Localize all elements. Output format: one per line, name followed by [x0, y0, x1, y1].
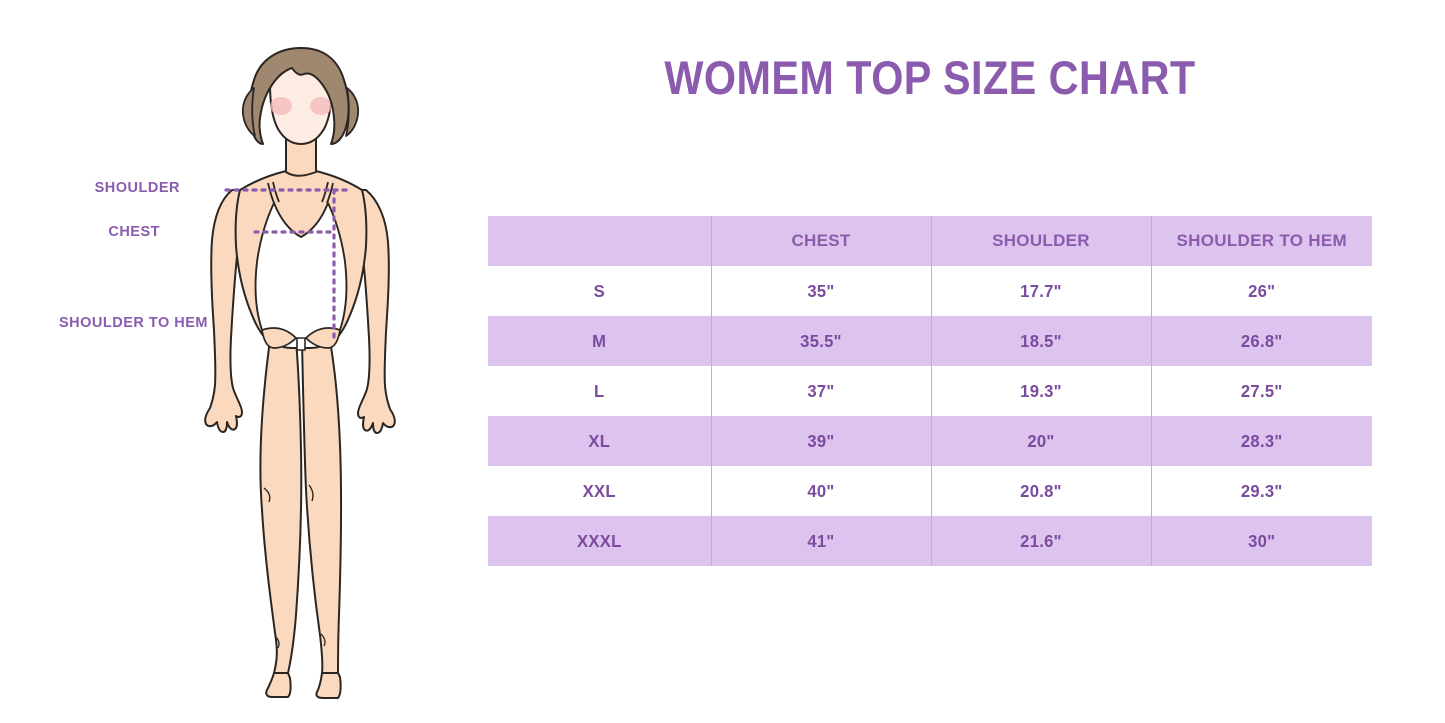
- cell-chest: 35.5": [717, 316, 926, 366]
- body-figure-illustration: [170, 40, 450, 700]
- table-row: XXL 40" 20.8" 29.3": [488, 466, 1372, 516]
- cell-shoulder-to-hem: 27.5": [1157, 366, 1367, 416]
- head-shape: [243, 48, 358, 144]
- column-header-size: [488, 216, 711, 266]
- cell-size: XXL: [494, 466, 706, 516]
- cell-shoulder-to-hem: 30": [1157, 516, 1367, 566]
- table-header: CHEST SHOULDER SHOULDER TO HEM: [488, 216, 1372, 266]
- measurement-label-chest: CHEST: [108, 224, 160, 240]
- cell-shoulder-to-hem: 26.8": [1157, 316, 1367, 366]
- measurement-label-shoulder: SHOULDER: [95, 180, 180, 196]
- cell-chest: 39": [717, 416, 926, 466]
- cell-shoulder: 20": [937, 416, 1146, 466]
- table-body: S 35" 17.7" 26" M 35.5" 18.5" 26.8" L 37…: [488, 266, 1372, 566]
- cell-size: XXXL: [494, 516, 706, 566]
- column-header-shoulder-to-hem: SHOULDER TO HEM: [1151, 216, 1372, 266]
- table-row: M 35.5" 18.5" 26.8": [488, 316, 1372, 366]
- cell-chest: 40": [717, 466, 926, 516]
- table-header-row: CHEST SHOULDER SHOULDER TO HEM: [488, 216, 1372, 266]
- cell-chest: 37": [717, 366, 926, 416]
- cell-shoulder: 21.6": [937, 516, 1146, 566]
- cell-shoulder: 17.7": [937, 266, 1146, 316]
- size-chart-table: CHEST SHOULDER SHOULDER TO HEM S 35" 17.…: [488, 216, 1372, 566]
- cell-size: M: [494, 316, 706, 366]
- cell-shoulder-to-hem: 29.3": [1157, 466, 1367, 516]
- cell-size: L: [494, 366, 706, 416]
- legs-shape: [260, 340, 341, 698]
- table-row: L 37" 19.3" 27.5": [488, 366, 1372, 416]
- column-header-chest: CHEST: [711, 216, 931, 266]
- table-row: XXXL 41" 21.6" 30": [488, 516, 1372, 566]
- cell-size: S: [494, 266, 706, 316]
- measurement-label-shoulder-to-hem: SHOULDER TO HEM: [59, 315, 208, 331]
- column-header-shoulder: SHOULDER: [931, 216, 1151, 266]
- cell-shoulder: 20.8": [937, 466, 1146, 516]
- cell-chest: 41": [717, 516, 926, 566]
- cell-size: XL: [494, 416, 706, 466]
- table-row: S 35" 17.7" 26": [488, 266, 1372, 316]
- cell-shoulder: 18.5": [937, 316, 1146, 366]
- table-row: XL 39" 20" 28.3": [488, 416, 1372, 466]
- cell-shoulder: 19.3": [937, 366, 1146, 416]
- cell-shoulder-to-hem: 26": [1157, 266, 1367, 316]
- cell-chest: 35": [717, 266, 926, 316]
- cell-shoulder-to-hem: 28.3": [1157, 416, 1367, 466]
- page-title: WOMEM TOP SIZE CHART: [541, 50, 1319, 105]
